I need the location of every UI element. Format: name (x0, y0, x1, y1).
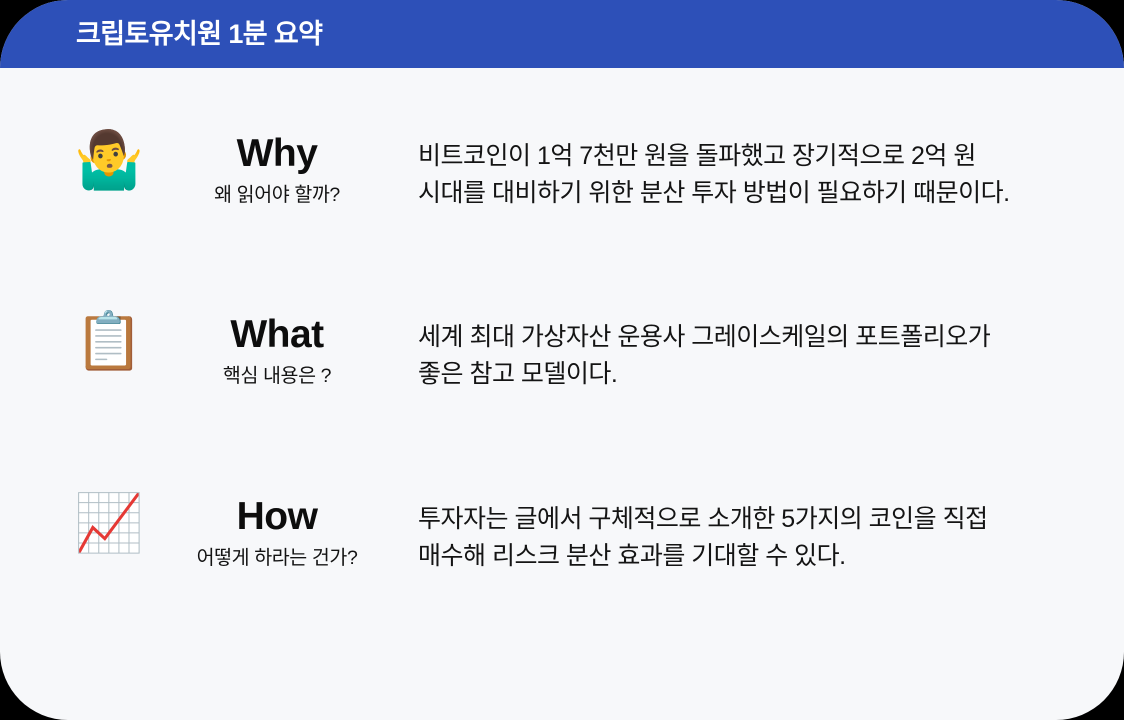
row-label-how: How 어떻게 하라는 건가? (146, 493, 408, 571)
row-subtitle-how: 어떻게 하라는 건가? (197, 545, 358, 571)
page-title: 크립토유치원 1분 요약 (76, 21, 322, 48)
row-body-what: 세계 최대 가상자산 운용사 그레이스케일의 포트폴리오가 좋은 참고 모델이다… (408, 311, 1100, 393)
row-subtitle-what: 핵심 내용은 ? (223, 363, 331, 389)
row-body-line: 매수해 리스크 분산 효과를 기대할 수 있다. (418, 538, 1100, 575)
chart-increasing-emoji: 📈 (74, 493, 146, 555)
row-body-line: 세계 최대 가상자산 운용사 그레이스케일의 포트폴리오가 (418, 319, 1100, 356)
row-title-how: How (237, 495, 318, 539)
summary-row-why: 🤷‍♂️ Why 왜 읽어야 할까? 비트코인이 1억 7천만 원을 돌파했고 … (0, 130, 1124, 311)
row-body-line: 비트코인이 1억 7천만 원을 돌파했고 장기적으로 2억 원 (418, 138, 1100, 175)
man-shrugging-emoji: 🤷‍♂️ (74, 130, 146, 192)
summary-row-what: 📋 What 핵심 내용은 ? 세계 최대 가상자산 운용사 그레이스케일의 포… (0, 311, 1124, 492)
clipboard-emoji: 📋 (74, 311, 146, 373)
row-body-line: 투자자는 글에서 구체적으로 소개한 5가지의 코인을 직접 (418, 501, 1100, 538)
summary-rows: 🤷‍♂️ Why 왜 읽어야 할까? 비트코인이 1억 7천만 원을 돌파했고 … (0, 68, 1124, 720)
card-header: 크립토유치원 1분 요약 (0, 0, 1124, 68)
summary-row-how: 📈 How 어떻게 하라는 건가? 투자자는 글에서 구체적으로 소개한 5가지… (0, 493, 1124, 674)
row-body-how: 투자자는 글에서 구체적으로 소개한 5가지의 코인을 직접 매수해 리스크 분… (408, 493, 1100, 575)
row-title-what: What (230, 313, 323, 357)
row-title-why: Why (237, 132, 318, 176)
row-label-why: Why 왜 읽어야 할까? (146, 130, 408, 208)
summary-card: 크립토유치원 1분 요약 🤷‍♂️ Why 왜 읽어야 할까? 비트코인이 1억… (0, 0, 1124, 720)
row-body-line: 시대를 대비하기 위한 분산 투자 방법이 필요하기 때문이다. (418, 175, 1100, 212)
row-body-line: 좋은 참고 모델이다. (418, 356, 1100, 393)
row-body-why: 비트코인이 1억 7천만 원을 돌파했고 장기적으로 2억 원 시대를 대비하기… (408, 130, 1100, 212)
row-label-what: What 핵심 내용은 ? (146, 311, 408, 389)
row-subtitle-why: 왜 읽어야 할까? (214, 182, 340, 208)
